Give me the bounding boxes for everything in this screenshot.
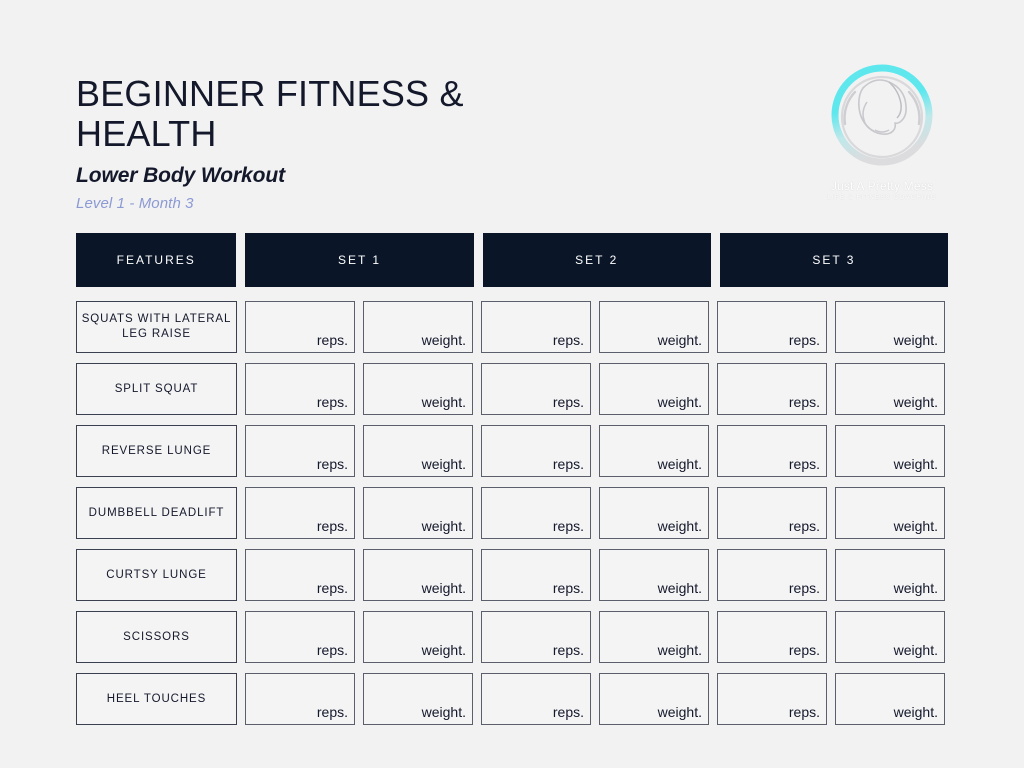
set-2-group: reps.weight. bbox=[481, 611, 709, 663]
reps-hint-label: reps. bbox=[553, 704, 584, 720]
table-row: HEEL TOUCHESreps.weight.reps.weight.reps… bbox=[76, 673, 948, 725]
weight-hint-label: weight. bbox=[422, 456, 466, 472]
table-body: SQUATS WITH LATERAL LEG RAISEreps.weight… bbox=[76, 301, 948, 725]
weight-hint-label: weight. bbox=[658, 456, 702, 472]
worksheet-page: BEGINNER FITNESS & HEALTH Lower Body Wor… bbox=[0, 0, 1024, 768]
reps-hint-label: reps. bbox=[789, 518, 820, 534]
weight-input-cell[interactable]: weight. bbox=[363, 549, 473, 601]
table-row: SPLIT SQUATreps.weight.reps.weight.reps.… bbox=[76, 363, 948, 415]
exercise-name-cell: CURTSY LUNGE bbox=[76, 549, 237, 601]
weight-input-cell[interactable]: weight. bbox=[835, 363, 945, 415]
weight-hint-label: weight. bbox=[894, 332, 938, 348]
weight-input-cell[interactable]: weight. bbox=[835, 425, 945, 477]
weight-input-cell[interactable]: weight. bbox=[363, 673, 473, 725]
set-2-group: reps.weight. bbox=[481, 363, 709, 415]
weight-input-cell[interactable]: weight. bbox=[363, 301, 473, 353]
weight-input-cell[interactable]: weight. bbox=[363, 425, 473, 477]
reps-input-cell[interactable]: reps. bbox=[481, 487, 591, 539]
reps-hint-label: reps. bbox=[789, 580, 820, 596]
reps-hint-label: reps. bbox=[553, 394, 584, 410]
reps-input-cell[interactable]: reps. bbox=[245, 673, 355, 725]
reps-input-cell[interactable]: reps. bbox=[717, 611, 827, 663]
reps-input-cell[interactable]: reps. bbox=[481, 673, 591, 725]
weight-input-cell[interactable]: weight. bbox=[599, 549, 709, 601]
page-title: BEGINNER FITNESS & HEALTH bbox=[76, 74, 496, 154]
reps-input-cell[interactable]: reps. bbox=[245, 301, 355, 353]
reps-input-cell[interactable]: reps. bbox=[481, 611, 591, 663]
reps-hint-label: reps. bbox=[553, 642, 584, 658]
weight-hint-label: weight. bbox=[422, 332, 466, 348]
exercise-name-label: CURTSY LUNGE bbox=[106, 568, 206, 583]
set-1-group: reps.weight. bbox=[245, 487, 473, 539]
exercise-name-cell: HEEL TOUCHES bbox=[76, 673, 237, 725]
level-label: Level 1 - Month 3 bbox=[76, 195, 696, 212]
reps-input-cell[interactable]: reps. bbox=[717, 301, 827, 353]
set-2-group: reps.weight. bbox=[481, 425, 709, 477]
reps-input-cell[interactable]: reps. bbox=[245, 611, 355, 663]
weight-hint-label: weight. bbox=[422, 518, 466, 534]
set-1-group: reps.weight. bbox=[245, 611, 473, 663]
column-header-features: FEATURES bbox=[76, 233, 236, 287]
weight-hint-label: weight. bbox=[894, 518, 938, 534]
exercise-name-label: SCISSORS bbox=[123, 630, 190, 645]
weight-input-cell[interactable]: weight. bbox=[363, 611, 473, 663]
weight-hint-label: weight. bbox=[658, 704, 702, 720]
table-header-row: FEATURES SET 1 SET 2 SET 3 bbox=[76, 233, 948, 287]
woman-face-profile-icon bbox=[823, 58, 941, 176]
set-2-group: reps.weight. bbox=[481, 487, 709, 539]
column-header-set-3: SET 3 bbox=[720, 233, 948, 287]
reps-input-cell[interactable]: reps. bbox=[717, 425, 827, 477]
reps-hint-label: reps. bbox=[553, 518, 584, 534]
reps-input-cell[interactable]: reps. bbox=[481, 549, 591, 601]
exercise-name-cell: DUMBBELL DEADLIFT bbox=[76, 487, 237, 539]
reps-hint-label: reps. bbox=[317, 332, 348, 348]
weight-hint-label: weight. bbox=[422, 642, 466, 658]
set-2-group: reps.weight. bbox=[481, 673, 709, 725]
set-3-group: reps.weight. bbox=[717, 487, 945, 539]
title-block: BEGINNER FITNESS & HEALTH Lower Body Wor… bbox=[76, 74, 696, 212]
weight-hint-label: weight. bbox=[894, 394, 938, 410]
brand-logo: Just A Pretty Mess LIFE & FITNESS COACHI… bbox=[817, 58, 947, 208]
weight-input-cell[interactable]: weight. bbox=[363, 487, 473, 539]
weight-input-cell[interactable]: weight. bbox=[835, 301, 945, 353]
reps-input-cell[interactable]: reps. bbox=[717, 487, 827, 539]
reps-hint-label: reps. bbox=[789, 394, 820, 410]
weight-hint-label: weight. bbox=[894, 580, 938, 596]
set-3-group: reps.weight. bbox=[717, 301, 945, 353]
weight-input-cell[interactable]: weight. bbox=[835, 487, 945, 539]
set-1-group: reps.weight. bbox=[245, 363, 473, 415]
reps-hint-label: reps. bbox=[553, 580, 584, 596]
weight-hint-label: weight. bbox=[422, 580, 466, 596]
workout-table: FEATURES SET 1 SET 2 SET 3 SQUATS WITH L… bbox=[76, 233, 948, 735]
logo-brand-name: Just A Pretty Mess bbox=[817, 180, 947, 193]
exercise-name-label: DUMBBELL DEADLIFT bbox=[89, 506, 225, 521]
reps-input-cell[interactable]: reps. bbox=[481, 363, 591, 415]
weight-hint-label: weight. bbox=[658, 394, 702, 410]
exercise-name-cell: SQUATS WITH LATERAL LEG RAISE bbox=[76, 301, 237, 353]
exercise-name-cell: SPLIT SQUAT bbox=[76, 363, 237, 415]
reps-input-cell[interactable]: reps. bbox=[481, 301, 591, 353]
reps-hint-label: reps. bbox=[789, 642, 820, 658]
set-2-group: reps.weight. bbox=[481, 301, 709, 353]
weight-hint-label: weight. bbox=[658, 518, 702, 534]
reps-hint-label: reps. bbox=[553, 456, 584, 472]
set-1-group: reps.weight. bbox=[245, 301, 473, 353]
weight-input-cell[interactable]: weight. bbox=[835, 611, 945, 663]
exercise-name-label: SQUATS WITH LATERAL LEG RAISE bbox=[81, 312, 232, 342]
reps-hint-label: reps. bbox=[317, 456, 348, 472]
table-row: CURTSY LUNGEreps.weight.reps.weight.reps… bbox=[76, 549, 948, 601]
reps-hint-label: reps. bbox=[789, 456, 820, 472]
weight-hint-label: weight. bbox=[422, 704, 466, 720]
set-1-group: reps.weight. bbox=[245, 673, 473, 725]
reps-hint-label: reps. bbox=[317, 704, 348, 720]
weight-hint-label: weight. bbox=[894, 642, 938, 658]
weight-input-cell[interactable]: weight. bbox=[835, 673, 945, 725]
reps-input-cell[interactable]: reps. bbox=[717, 673, 827, 725]
reps-hint-label: reps. bbox=[317, 642, 348, 658]
set-1-group: reps.weight. bbox=[245, 549, 473, 601]
table-row: SQUATS WITH LATERAL LEG RAISEreps.weight… bbox=[76, 301, 948, 353]
logo-ring-wrap bbox=[823, 58, 941, 176]
reps-hint-label: reps. bbox=[553, 332, 584, 348]
page-subtitle: Lower Body Workout bbox=[76, 164, 696, 188]
reps-hint-label: reps. bbox=[317, 518, 348, 534]
set-3-group: reps.weight. bbox=[717, 673, 945, 725]
weight-hint-label: weight. bbox=[422, 394, 466, 410]
set-1-group: reps.weight. bbox=[245, 425, 473, 477]
exercise-name-label: SPLIT SQUAT bbox=[115, 382, 199, 397]
logo-tagline: LIFE & FITNESS COACHING bbox=[817, 193, 947, 203]
exercise-name-cell: REVERSE LUNGE bbox=[76, 425, 237, 477]
set-3-group: reps.weight. bbox=[717, 549, 945, 601]
set-3-group: reps.weight. bbox=[717, 425, 945, 477]
column-header-set-1: SET 1 bbox=[245, 233, 473, 287]
exercise-name-cell: SCISSORS bbox=[76, 611, 237, 663]
weight-hint-label: weight. bbox=[894, 704, 938, 720]
reps-input-cell[interactable]: reps. bbox=[245, 363, 355, 415]
weight-hint-label: weight. bbox=[894, 456, 938, 472]
weight-input-cell[interactable]: weight. bbox=[835, 549, 945, 601]
weight-hint-label: weight. bbox=[658, 332, 702, 348]
weight-input-cell[interactable]: weight. bbox=[599, 425, 709, 477]
weight-hint-label: weight. bbox=[658, 642, 702, 658]
reps-hint-label: reps. bbox=[317, 394, 348, 410]
weight-input-cell[interactable]: weight. bbox=[599, 301, 709, 353]
exercise-name-label: REVERSE LUNGE bbox=[102, 444, 211, 459]
weight-input-cell[interactable]: weight. bbox=[599, 487, 709, 539]
weight-hint-label: weight. bbox=[658, 580, 702, 596]
set-3-group: reps.weight. bbox=[717, 611, 945, 663]
reps-input-cell[interactable]: reps. bbox=[245, 425, 355, 477]
reps-hint-label: reps. bbox=[789, 704, 820, 720]
reps-input-cell[interactable]: reps. bbox=[717, 363, 827, 415]
table-row: REVERSE LUNGEreps.weight.reps.weight.rep… bbox=[76, 425, 948, 477]
reps-hint-label: reps. bbox=[317, 580, 348, 596]
reps-input-cell[interactable]: reps. bbox=[717, 549, 827, 601]
reps-input-cell[interactable]: reps. bbox=[245, 487, 355, 539]
reps-hint-label: reps. bbox=[789, 332, 820, 348]
exercise-name-label: HEEL TOUCHES bbox=[107, 692, 206, 707]
set-3-group: reps.weight. bbox=[717, 363, 945, 415]
weight-input-cell[interactable]: weight. bbox=[599, 673, 709, 725]
set-2-group: reps.weight. bbox=[481, 549, 709, 601]
reps-input-cell[interactable]: reps. bbox=[481, 425, 591, 477]
logo-text: Just A Pretty Mess LIFE & FITNESS COACHI… bbox=[817, 180, 947, 203]
table-row: DUMBBELL DEADLIFTreps.weight.reps.weight… bbox=[76, 487, 948, 539]
weight-input-cell[interactable]: weight. bbox=[599, 611, 709, 663]
column-header-set-2: SET 2 bbox=[483, 233, 711, 287]
table-row: SCISSORSreps.weight.reps.weight.reps.wei… bbox=[76, 611, 948, 663]
reps-input-cell[interactable]: reps. bbox=[245, 549, 355, 601]
weight-input-cell[interactable]: weight. bbox=[363, 363, 473, 415]
weight-input-cell[interactable]: weight. bbox=[599, 363, 709, 415]
